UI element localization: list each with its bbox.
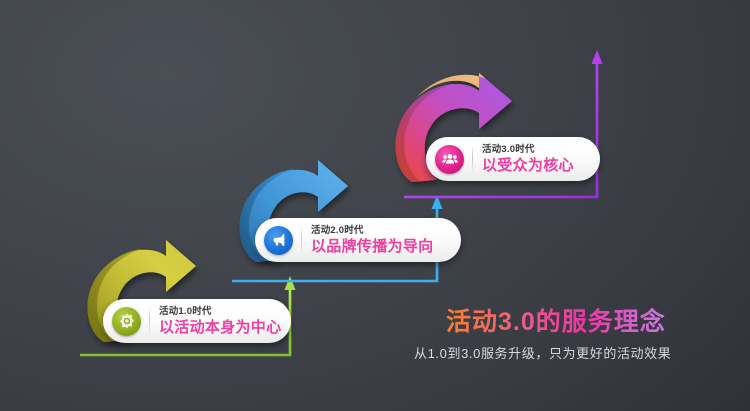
card-divider	[149, 307, 150, 335]
card-slogan-label: 以受众为核心	[482, 158, 574, 173]
card-era-label: 活动3.0时代	[482, 145, 574, 155]
step-card-3[interactable]: 活动3.0时代 以受众为核心	[426, 137, 600, 181]
infographic-canvas: 活动1.0时代 以活动本身为中心 活动2.0时代 以品牌传播为导向	[0, 0, 750, 411]
people-group-icon	[435, 145, 464, 174]
card-divider	[472, 145, 473, 173]
card-era-label: 活动1.0时代	[159, 307, 281, 317]
card-text-block: 活动2.0时代 以品牌传播为导向	[311, 226, 433, 254]
headline-title: 活动3.0的服务理念	[446, 302, 666, 338]
card-text-block: 活动1.0时代 以活动本身为中心	[159, 307, 281, 335]
subtitle-text: 从1.0到3.0服务升级，只为更好的活动效果	[414, 343, 671, 362]
step-card-2[interactable]: 活动2.0时代 以品牌传播为导向	[255, 218, 461, 262]
card-text-block: 活动3.0时代 以受众为核心	[482, 145, 574, 173]
step-card-1[interactable]: 活动1.0时代 以活动本身为中心	[103, 299, 291, 343]
card-divider	[301, 226, 302, 254]
gear-icon	[112, 307, 141, 336]
card-era-label: 活动2.0时代	[311, 226, 433, 236]
megaphone-icon	[264, 226, 293, 255]
card-slogan-label: 以品牌传播为导向	[311, 239, 433, 254]
card-slogan-label: 以活动本身为中心	[159, 320, 281, 335]
